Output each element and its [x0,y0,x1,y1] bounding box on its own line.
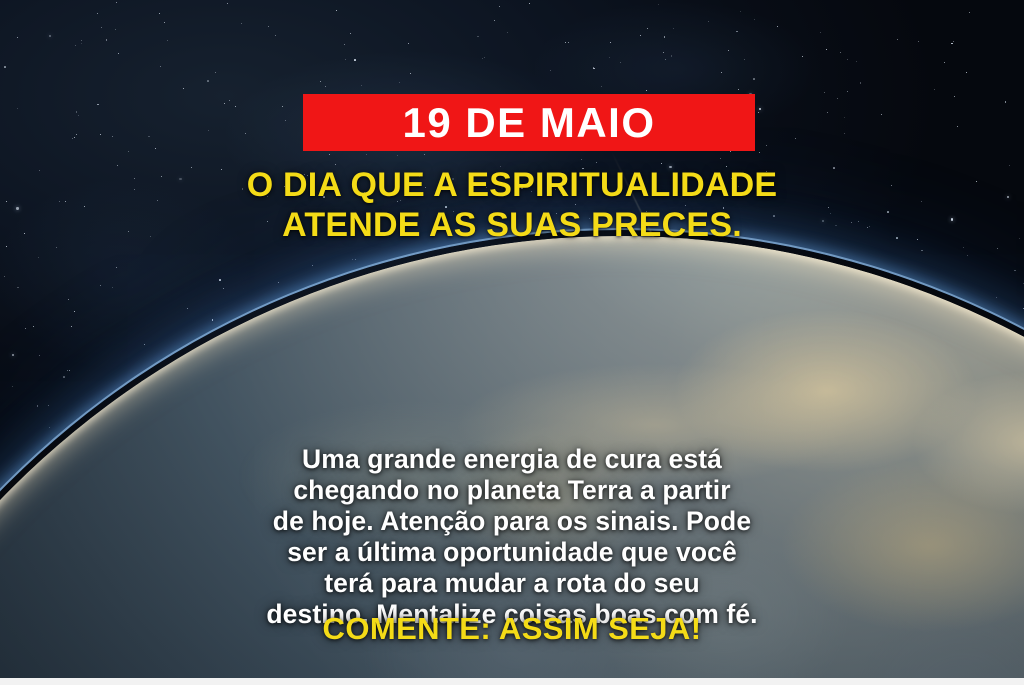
body-line-3: de hoje. Atenção para os sinais. Pode [0,506,1024,537]
poster-image: 19 DE MAIO O DIA QUE A ESPIRITUALIDADE A… [0,0,1024,685]
date-banner: 19 DE MAIO [303,94,755,151]
headline: O DIA QUE A ESPIRITUALIDADE ATENDE AS SU… [0,166,1024,246]
headline-line-2: ATENDE AS SUAS PRECES. [0,206,1024,246]
body-line-5: terá para mudar a rota do seu [0,568,1024,599]
body-line-4: ser a última oportunidade que você [0,537,1024,568]
body-copy: Uma grande energia de cura está chegando… [0,444,1024,630]
call-to-action-text: COMENTE: ASSIM SEJA! [0,613,1024,644]
headline-line-1: O DIA QUE A ESPIRITUALIDADE [0,166,1024,206]
body-line-2: chegando no planeta Terra a partir [0,475,1024,506]
body-line-1: Uma grande energia de cura está [0,444,1024,475]
bottom-edge-strip [0,678,1024,685]
text-overlay: 19 DE MAIO O DIA QUE A ESPIRITUALIDADE A… [0,0,1024,685]
date-banner-text: 19 DE MAIO [402,102,655,144]
